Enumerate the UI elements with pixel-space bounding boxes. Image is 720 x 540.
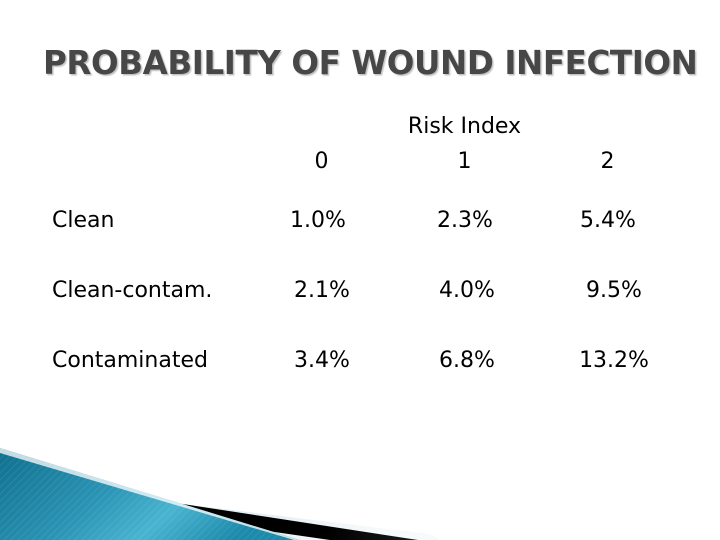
table-row: Clean-contam. 2.1% 4.0% 9.5% bbox=[0, 255, 720, 325]
slide-canvas: PROBABILITY OF WOUND INFECTION Risk Inde… bbox=[0, 0, 720, 540]
probability-table: Risk Index 0 1 2 Clean 1.0% 2.3% 5.4% bbox=[0, 112, 720, 395]
cell-clean-contam-1: 4.0% bbox=[393, 255, 536, 325]
table-corner-cell bbox=[0, 112, 250, 143]
cell-clean-1: 2.3% bbox=[393, 185, 536, 255]
black-accent-wedge bbox=[0, 476, 418, 540]
flow-theme-corner-graphic bbox=[0, 430, 440, 540]
row-header-blank bbox=[0, 143, 250, 185]
row-label-contaminated: Contaminated bbox=[0, 325, 250, 395]
column-header-1: 1 bbox=[393, 143, 536, 185]
table-body: Clean 1.0% 2.3% 5.4% Clean-contam. 2.1% … bbox=[0, 185, 720, 395]
cell-contaminated-1: 6.8% bbox=[393, 325, 536, 395]
column-header-row: 0 1 2 bbox=[0, 143, 720, 185]
pale-wedge bbox=[0, 482, 440, 540]
page-title: PROBABILITY OF WOUND INFECTION bbox=[43, 40, 693, 90]
teal-triangle bbox=[0, 448, 300, 540]
head-pad-cell bbox=[679, 112, 720, 143]
row-pad-cell-3 bbox=[679, 325, 720, 395]
teal-edge-highlight bbox=[0, 448, 300, 540]
row-label-clean: Clean bbox=[0, 185, 250, 255]
row-label-clean-contam: Clean-contam. bbox=[0, 255, 250, 325]
head-pad-cell-2 bbox=[679, 143, 720, 185]
cell-contaminated-0: 3.4% bbox=[250, 325, 393, 395]
cell-contaminated-2: 13.2% bbox=[536, 325, 679, 395]
cell-clean-contam-0: 2.1% bbox=[250, 255, 393, 325]
column-header-2: 2 bbox=[536, 143, 679, 185]
table-row: Clean 1.0% 2.3% 5.4% bbox=[0, 185, 720, 255]
row-pad-cell-2 bbox=[679, 255, 720, 325]
cell-clean-0: 1.0% bbox=[250, 185, 393, 255]
column-header-0: 0 bbox=[250, 143, 393, 185]
corner-graphic-svg bbox=[0, 430, 440, 540]
row-pad-cell bbox=[679, 185, 720, 255]
cell-clean-contam-2: 9.5% bbox=[536, 255, 679, 325]
table-row: Contaminated 3.4% 6.8% 13.2% bbox=[0, 325, 720, 395]
teal-triangle-texture bbox=[0, 448, 300, 540]
risk-index-group-header: Risk Index bbox=[250, 112, 679, 143]
table-region: Risk Index 0 1 2 Clean 1.0% 2.3% 5.4% bbox=[0, 112, 720, 412]
table-head: Risk Index 0 1 2 bbox=[0, 112, 720, 185]
group-header-row: Risk Index bbox=[0, 112, 720, 143]
cell-clean-2: 5.4% bbox=[536, 185, 679, 255]
